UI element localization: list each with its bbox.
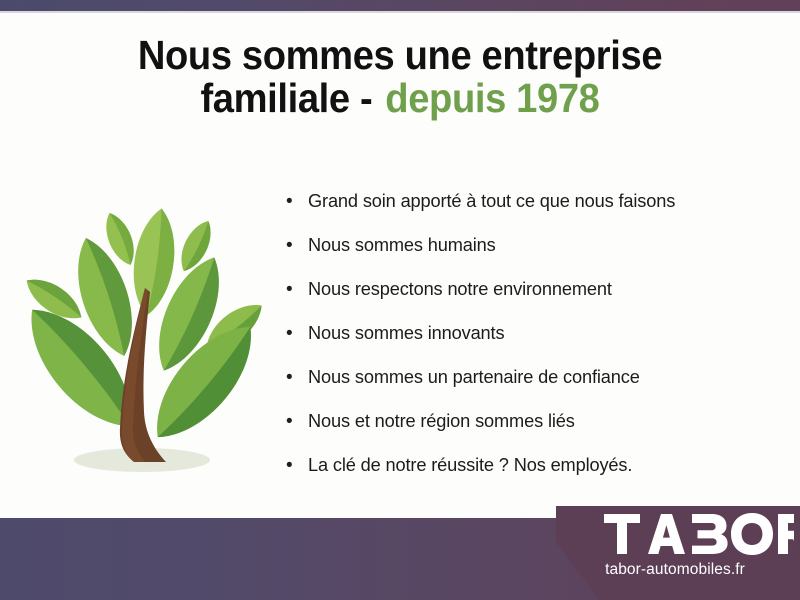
tree-illustration <box>14 192 270 488</box>
list-item-label: Nous respectons notre environnement <box>308 278 612 300</box>
bullet-dot-icon: • <box>286 280 308 299</box>
brand-logo-tabor[interactable] <box>604 512 794 556</box>
title-accent-year: depuis 1978 <box>385 75 599 121</box>
top-band-hairline <box>0 11 800 13</box>
list-item: • Nous et notre région sommes liés <box>286 410 786 454</box>
list-item: • Grand soin apporté à tout ce que nous … <box>286 190 786 234</box>
bullet-dot-icon: • <box>286 368 308 387</box>
bullet-dot-icon: • <box>286 236 308 255</box>
list-item: • Nous sommes humains <box>286 234 786 278</box>
list-item: • Nous sommes un partenaire de confiance <box>286 366 786 410</box>
list-item-label: Grand soin apporté à tout ce que nous fa… <box>308 190 675 212</box>
list-item: • La clé de notre réussite ? Nos employé… <box>286 454 786 498</box>
brand-website-url[interactable]: tabor-automobiles.fr <box>556 561 800 579</box>
bullet-dot-icon: • <box>286 324 308 343</box>
top-accent-band <box>0 0 800 11</box>
list-item-label: La clé de notre réussite ? Nos employés. <box>308 454 632 476</box>
list-item-label: Nous sommes humains <box>308 234 496 256</box>
title-line-2: familiale -depuis 1978 <box>28 77 772 120</box>
list-item-label: Nous sommes innovants <box>308 322 504 344</box>
page-title: Nous sommes une entreprise familiale -de… <box>0 34 800 119</box>
bullet-dot-icon: • <box>286 192 308 211</box>
presentation-slide: Nous sommes une entreprise familiale -de… <box>0 0 800 600</box>
list-item-label: Nous sommes un partenaire de confiance <box>308 366 640 388</box>
title-line-1: Nous sommes une entreprise <box>28 34 772 77</box>
bullet-list: • Grand soin apporté à tout ce que nous … <box>286 190 786 498</box>
list-item-label: Nous et notre région sommes liés <box>308 410 575 432</box>
bullet-dot-icon: • <box>286 412 308 431</box>
title-line-2-text: familiale - <box>200 75 372 121</box>
list-item: • Nous respectons notre environnement <box>286 278 786 322</box>
bullet-dot-icon: • <box>286 456 308 475</box>
list-item: • Nous sommes innovants <box>286 322 786 366</box>
